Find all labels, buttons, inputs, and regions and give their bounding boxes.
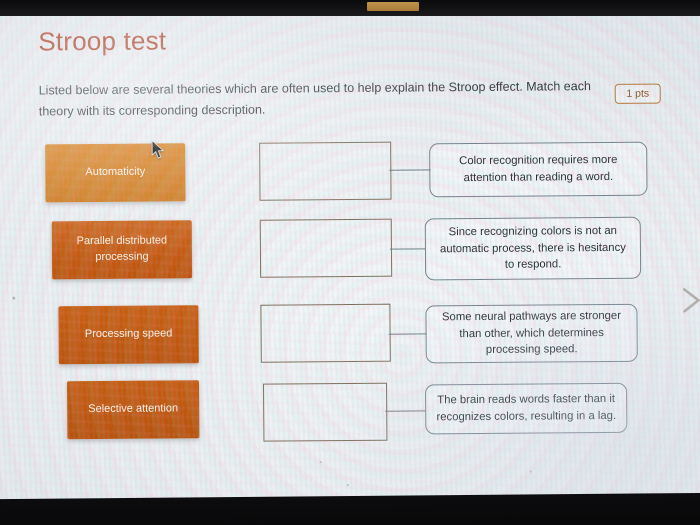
dust-speck	[347, 484, 349, 486]
description-card[interactable]: The brain reads words faster than it rec…	[425, 383, 627, 435]
matching-row: Automaticity Color recognition requires …	[0, 139, 699, 144]
dust-speck	[530, 471, 532, 473]
description-card[interactable]: Color recognition requires more attentio…	[429, 142, 647, 198]
monitor-bezel-top	[0, 0, 700, 16]
dust-speck	[12, 297, 15, 300]
question-prompt: Listed below are several theories which …	[39, 76, 617, 122]
connector-line	[389, 169, 431, 171]
monitor-photo: Stroop test Listed below are several the…	[0, 0, 700, 525]
dust-speck	[320, 461, 322, 463]
page-title: Stroop test	[38, 25, 166, 57]
bezel-tab-marker	[367, 2, 419, 11]
points-badge: 1 pts	[615, 84, 661, 104]
matching-row: Processing speed Some neural pathways ar…	[0, 301, 700, 306]
quiz-page: Stroop test Listed below are several the…	[0, 3, 700, 508]
matching-row: Selective attention The brain reads word…	[1, 376, 700, 381]
theory-chip-processing-speed[interactable]: Processing speed	[58, 305, 198, 364]
theory-chip-selective-attention[interactable]: Selective attention	[67, 380, 199, 439]
answer-drop-slot[interactable]	[259, 142, 391, 201]
answer-drop-slot[interactable]	[260, 304, 390, 363]
description-card[interactable]: Some neural pathways are stronger than o…	[425, 304, 637, 364]
connector-line	[389, 333, 427, 334]
connector-line	[385, 410, 425, 412]
chevron-right-icon[interactable]	[680, 285, 700, 315]
description-card[interactable]: Since recognizing colors is not an autom…	[425, 217, 641, 281]
matching-row: Parallel distributed processing Since re…	[0, 216, 700, 221]
monitor-screen: Stroop test Listed below are several the…	[0, 3, 700, 509]
connector-line	[390, 248, 426, 249]
answer-drop-slot[interactable]	[260, 219, 392, 278]
theory-chip-parallel-distributed-processing[interactable]: Parallel distributed processing	[52, 220, 192, 279]
mouse-pointer-icon	[151, 139, 165, 159]
answer-drop-slot[interactable]	[263, 383, 387, 442]
monitor-bezel-bottom	[0, 493, 700, 525]
